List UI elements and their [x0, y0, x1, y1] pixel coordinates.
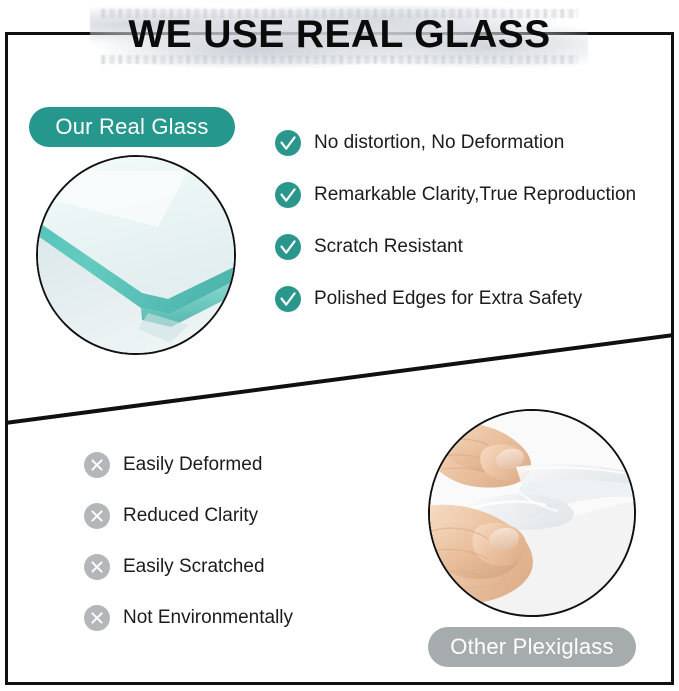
- list-item-label: Remarkable Clarity,True Reproduction: [314, 182, 636, 208]
- check-icon: [275, 286, 301, 312]
- list-item: No distortion, No Deformation: [275, 130, 675, 156]
- pros-list: No distortion, No Deformation Remarkable…: [275, 130, 675, 338]
- list-item-label: Reduced Clarity: [123, 503, 258, 529]
- list-item: Reduced Clarity: [84, 503, 434, 529]
- product-comparison-infographic: WE USE REAL GLASS Our Real Glass: [0, 0, 679, 691]
- list-item-label: Polished Edges for Extra Safety: [314, 286, 582, 312]
- badge-our-real-glass-label: Our Real Glass: [55, 114, 208, 140]
- list-item: Polished Edges for Extra Safety: [275, 286, 675, 312]
- list-item-label: No distortion, No Deformation: [314, 130, 564, 156]
- cross-icon: [84, 503, 110, 529]
- cross-icon: [84, 605, 110, 631]
- list-item: Remarkable Clarity,True Reproduction: [275, 182, 675, 208]
- page-title: WE USE REAL GLASS: [0, 12, 679, 58]
- check-icon: [275, 234, 301, 260]
- list-item: Easily Deformed: [84, 452, 434, 478]
- bending-plexiglass-photo: [428, 409, 636, 617]
- cons-list: Easily Deformed Reduced Clarity Easily S…: [84, 452, 434, 656]
- list-item-label: Scratch Resistant: [314, 234, 463, 260]
- badge-other-plexiglass-label: Other Plexiglass: [450, 634, 613, 660]
- list-item-label: Not Environmentally: [123, 605, 293, 631]
- list-item: Scratch Resistant: [275, 234, 675, 260]
- badge-our-real-glass: Our Real Glass: [29, 107, 235, 147]
- real-glass-corner-photo: [36, 155, 236, 355]
- list-item: Easily Scratched: [84, 554, 434, 580]
- cross-icon: [84, 452, 110, 478]
- glass-corner-illustration: [38, 157, 234, 353]
- badge-other-plexiglass: Other Plexiglass: [428, 627, 636, 667]
- check-icon: [275, 182, 301, 208]
- cross-icon: [84, 554, 110, 580]
- hand-bending-plastic-illustration: [430, 411, 634, 615]
- list-item: Not Environmentally: [84, 605, 434, 631]
- list-item-label: Easily Scratched: [123, 554, 265, 580]
- check-icon: [275, 130, 301, 156]
- list-item-label: Easily Deformed: [123, 452, 262, 478]
